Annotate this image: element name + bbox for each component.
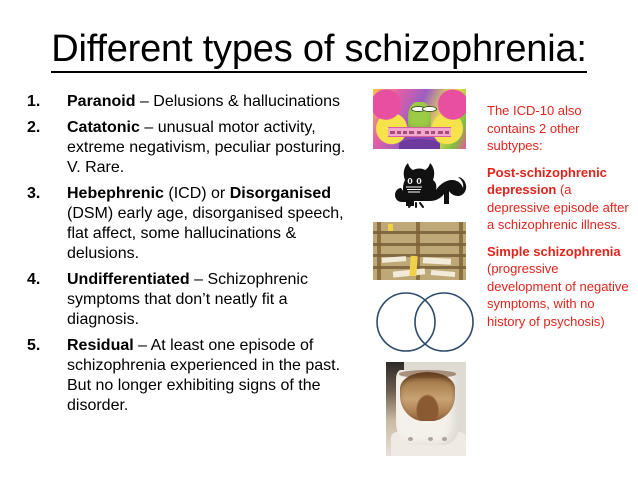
list-item-number: 2. — [27, 118, 67, 138]
venn-icon — [370, 291, 480, 353]
list-item-number: 3. — [27, 184, 67, 204]
sidebar-entry1-term: Post-schizophrenic depression — [487, 165, 607, 198]
list-item-text: Residual – At least one episode of schiz… — [67, 336, 357, 416]
list-item-number: 5. — [27, 336, 67, 356]
slide-canvas: Different types of schizophrenia: 1. Par… — [0, 0, 638, 479]
list-item-term: Catatonic — [67, 119, 140, 136]
list-item-text: Catatonic – unusual motor activity, extr… — [67, 118, 357, 178]
empty-coffee-cup-photo — [386, 362, 466, 456]
sidebar-intro: The ICD-10 also contains 2 other subtype… — [487, 102, 629, 155]
list-item: 3. Hebephrenic (ICD) or Disorganised (DS… — [27, 184, 357, 264]
list-item: 5. Residual – At least one episode of sc… — [27, 336, 357, 416]
sidebar-entry2-text: (progressive development of negative sym… — [487, 261, 629, 329]
black-cat-silhouette-image — [392, 154, 468, 212]
sidebar-entry-simple-schizophrenia: Simple schizophrenia (progressive develo… — [487, 243, 629, 331]
schizophrenia-types-list: 1. Paranoid – Delusions & hallucinations… — [27, 92, 357, 422]
list-item: 4. Undifferentiated – Schizophrenic symp… — [27, 270, 357, 330]
list-item-term: Hebephrenic — [67, 185, 164, 202]
list-item-mid: (ICD) or — [164, 185, 230, 202]
list-item-term: Undifferentiated — [67, 271, 190, 288]
psychedelic-poster-image — [373, 89, 466, 149]
page-title: Different types of schizophrenia: — [0, 26, 638, 72]
page-title-text: Different types of schizophrenia: — [51, 28, 587, 73]
list-item-text: Undifferentiated – Schizophrenic symptom… — [67, 270, 357, 330]
sidebar-entry-post-schizophrenic: Post-schizophrenic depression (a depress… — [487, 164, 629, 234]
list-item: 2. Catatonic – unusual motor activity, e… — [27, 118, 357, 178]
list-item-number: 1. — [27, 92, 67, 112]
poster-title-band — [388, 127, 451, 137]
creature-eye-right — [422, 106, 437, 113]
cup-rim — [399, 370, 457, 378]
icd10-sidebar-note: The ICD-10 also contains 2 other subtype… — [487, 102, 629, 339]
coffee-residue — [400, 372, 454, 421]
sidebar-entry2-term: Simple schizophrenia — [487, 244, 621, 259]
list-item-description: – Delusions & hallucinations — [135, 93, 340, 110]
list-item-number: 4. — [27, 270, 67, 290]
poster-base-shape — [399, 139, 440, 149]
list-item-text: Paranoid – Delusions & hallucinations — [67, 92, 357, 112]
list-item: 1. Paranoid – Delusions & hallucinations — [27, 92, 357, 112]
cluttered-shelves-photo — [373, 222, 466, 280]
cat-icon — [392, 154, 468, 212]
list-item-term-secondary: Disorganised — [230, 185, 331, 202]
list-item-text: Hebephrenic (ICD) or Disorganised (DSM) … — [67, 184, 357, 264]
list-item-term: Paranoid — [67, 93, 135, 110]
list-item-term: Residual — [67, 337, 134, 354]
list-item-description: (DSM) early age, disorganised speech, fl… — [67, 205, 344, 262]
venn-diagram-two-circles — [370, 291, 480, 353]
